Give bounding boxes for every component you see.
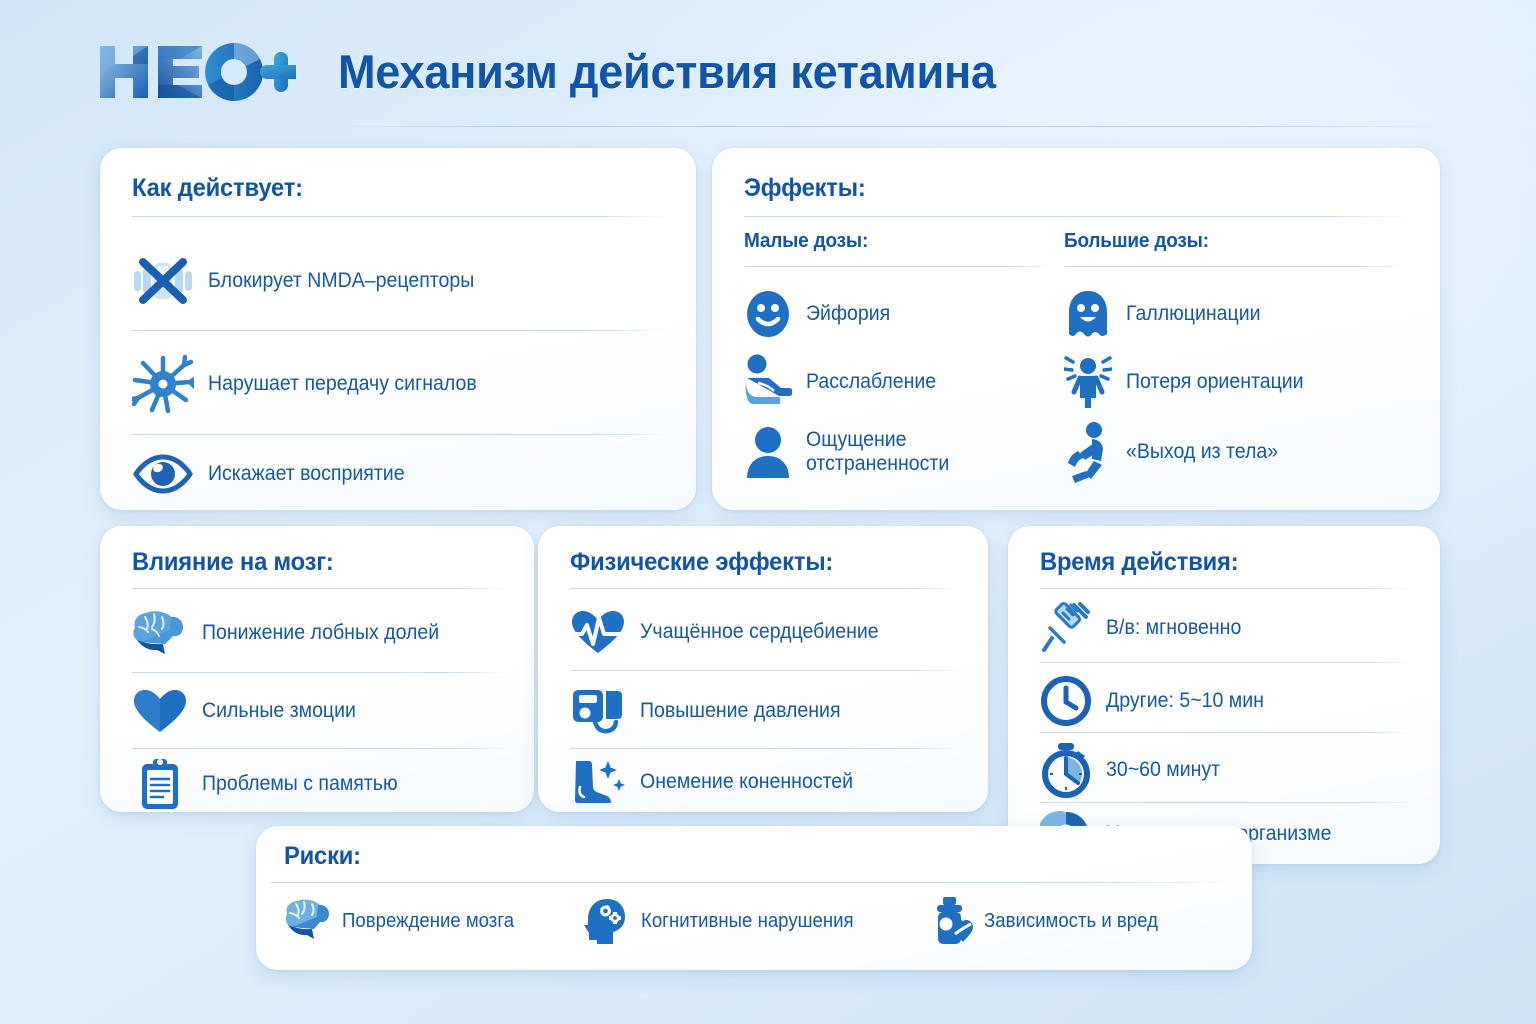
divider: [1040, 802, 1414, 803]
divider: [132, 216, 670, 217]
list-item-label: Эйфория: [806, 302, 890, 326]
person-bust-icon: [744, 424, 792, 480]
list-item-label: Онемение коненностей: [640, 770, 853, 794]
list-item: Сильные змоции: [132, 682, 508, 740]
list-item-label: Потеря ориентации: [1126, 370, 1304, 394]
list-item-label: Нарушает передачу сигналов: [208, 372, 477, 396]
stopwatch-icon: [1040, 742, 1092, 798]
list-item-label: Повышение давления: [640, 699, 841, 723]
list-item: Понижение лобных долей: [132, 600, 508, 666]
list-item-label: Другие: 5~10 мин: [1106, 689, 1264, 713]
card-physical-title: Физические эффекты:: [570, 548, 942, 577]
list-item-label: Понижение лобных долей: [202, 621, 439, 645]
card-duration: Время действия: В/в: мгновенно: [1008, 526, 1440, 864]
divider: [1040, 588, 1414, 589]
list-item: Повышение давления: [570, 680, 962, 742]
divider: [132, 588, 508, 589]
list-item: «Выход из тела»: [1064, 417, 1408, 487]
clipboard-icon: [132, 757, 188, 811]
list-item-label: Расслабление: [806, 370, 936, 394]
divider: [1040, 732, 1414, 733]
list-item: Другие: 5~10 мин: [1040, 672, 1414, 730]
list-item: Расслабление: [744, 349, 1054, 415]
list-item-label: Блокирует NMDA–рецепторы: [208, 269, 474, 293]
list-item: Проблемы с памятью: [132, 756, 508, 812]
card-time-title: Время действия:: [1040, 548, 1395, 577]
list-item: Онемение коненностей: [570, 754, 962, 810]
card-risks-title: Риски:: [284, 842, 361, 871]
list-item-label: Искажает восприятие: [208, 462, 405, 486]
header-divider: [330, 126, 1440, 127]
reclining-person-icon: [744, 353, 792, 411]
blocked-receptor-icon: [132, 257, 194, 305]
numb-foot-icon: [570, 757, 626, 807]
divider: [132, 672, 508, 673]
divider: [1064, 266, 1408, 267]
pill-bottle-icon: [926, 896, 974, 946]
clock-icon: [1040, 675, 1092, 727]
list-item: Эйфория: [744, 281, 1054, 347]
list-item-label: В/в: мгновенно: [1106, 616, 1241, 640]
list-item: Потеря ориентации: [1064, 349, 1408, 415]
effects-column-high-title: Большие дозы:: [1064, 230, 1391, 253]
divider: [271, 882, 1237, 883]
list-item: 30~60 минут: [1040, 740, 1414, 800]
list-item-label: Учащённое сердцебиение: [640, 620, 879, 644]
list-item: Галлюцинации: [1064, 281, 1408, 347]
header: Механизм действия кетамина: [0, 0, 1536, 132]
list-item: Повреждение мозга: [284, 897, 527, 945]
syringe-icon: [1040, 600, 1092, 656]
infographic-root: Механизм действия кетамина Как действует…: [0, 0, 1536, 1024]
list-item: Ощущение отстраненности: [744, 417, 1054, 487]
list-item: Когнитивные нарушения: [583, 896, 870, 946]
card-brain-title: Влияние на мозг:: [132, 548, 489, 577]
divider: [570, 588, 962, 589]
list-item-label: Повреждение мозга: [342, 910, 514, 933]
ghost-icon: [1064, 288, 1112, 340]
divider: [132, 434, 670, 435]
smiley-face-icon: [744, 289, 792, 339]
divider: [132, 330, 670, 331]
list-item: Нарушает передачу сигналов: [132, 340, 670, 428]
divider: [1040, 662, 1414, 663]
list-item: В/в: мгновенно: [1040, 598, 1414, 658]
list-item: Искажает восприятие: [132, 444, 670, 504]
card-brain-impact: Влияние на мозг: Понижение лобных долей …: [100, 526, 534, 812]
divider: [570, 670, 962, 671]
list-item: Блокирует NMDA–рецепторы: [132, 236, 670, 326]
list-item-label: Проблемы с памятью: [202, 772, 398, 796]
heartbeat-icon: [570, 608, 626, 656]
list-item-label: Галлюцинации: [1126, 302, 1261, 326]
brain-icon: [132, 609, 188, 657]
effects-column-low-title: Малые дозы:: [744, 230, 1039, 253]
divider: [570, 748, 962, 749]
divider: [744, 266, 1054, 267]
disoriented-person-icon: [1064, 354, 1112, 410]
card-effects: Эффекты: Малые дозы: Эйфория: [712, 148, 1440, 510]
running-person-icon: [1064, 421, 1112, 483]
divider: [744, 216, 1414, 217]
list-item-label: Ощущение отстраненности: [806, 428, 949, 476]
brain-damage-icon: [284, 897, 332, 945]
card-risks: Риски: Повреждение мозга: [256, 826, 1252, 970]
heart-icon: [132, 687, 188, 735]
card-how-it-works: Как действует: Блокирует NMDA–рецепторы: [100, 148, 696, 510]
divider: [132, 748, 508, 749]
list-item-label: Когнитивные нарушения: [641, 910, 854, 933]
head-gears-icon: [583, 896, 631, 946]
neuron-icon: [132, 354, 194, 414]
neo-plus-logo: [96, 40, 296, 104]
page-title: Механизм действия кетамина: [338, 44, 996, 99]
list-item-label: «Выход из тела»: [1126, 440, 1278, 464]
list-item-label: Зависимость и вред: [984, 910, 1158, 933]
card-effects-title: Эффекты:: [744, 174, 1381, 203]
blood-pressure-icon: [570, 685, 626, 737]
eye-icon: [132, 453, 194, 495]
card-how-title: Как действует:: [132, 174, 643, 203]
list-item-label: Сильные змоции: [202, 699, 356, 723]
card-physical-effects: Физические эффекты: Учащённое сердцебиен…: [538, 526, 988, 812]
list-item-label: 30~60 минут: [1106, 758, 1220, 782]
list-item: Зависимость и вред: [926, 896, 1171, 946]
list-item: Учащённое сердцебиение: [570, 600, 962, 664]
